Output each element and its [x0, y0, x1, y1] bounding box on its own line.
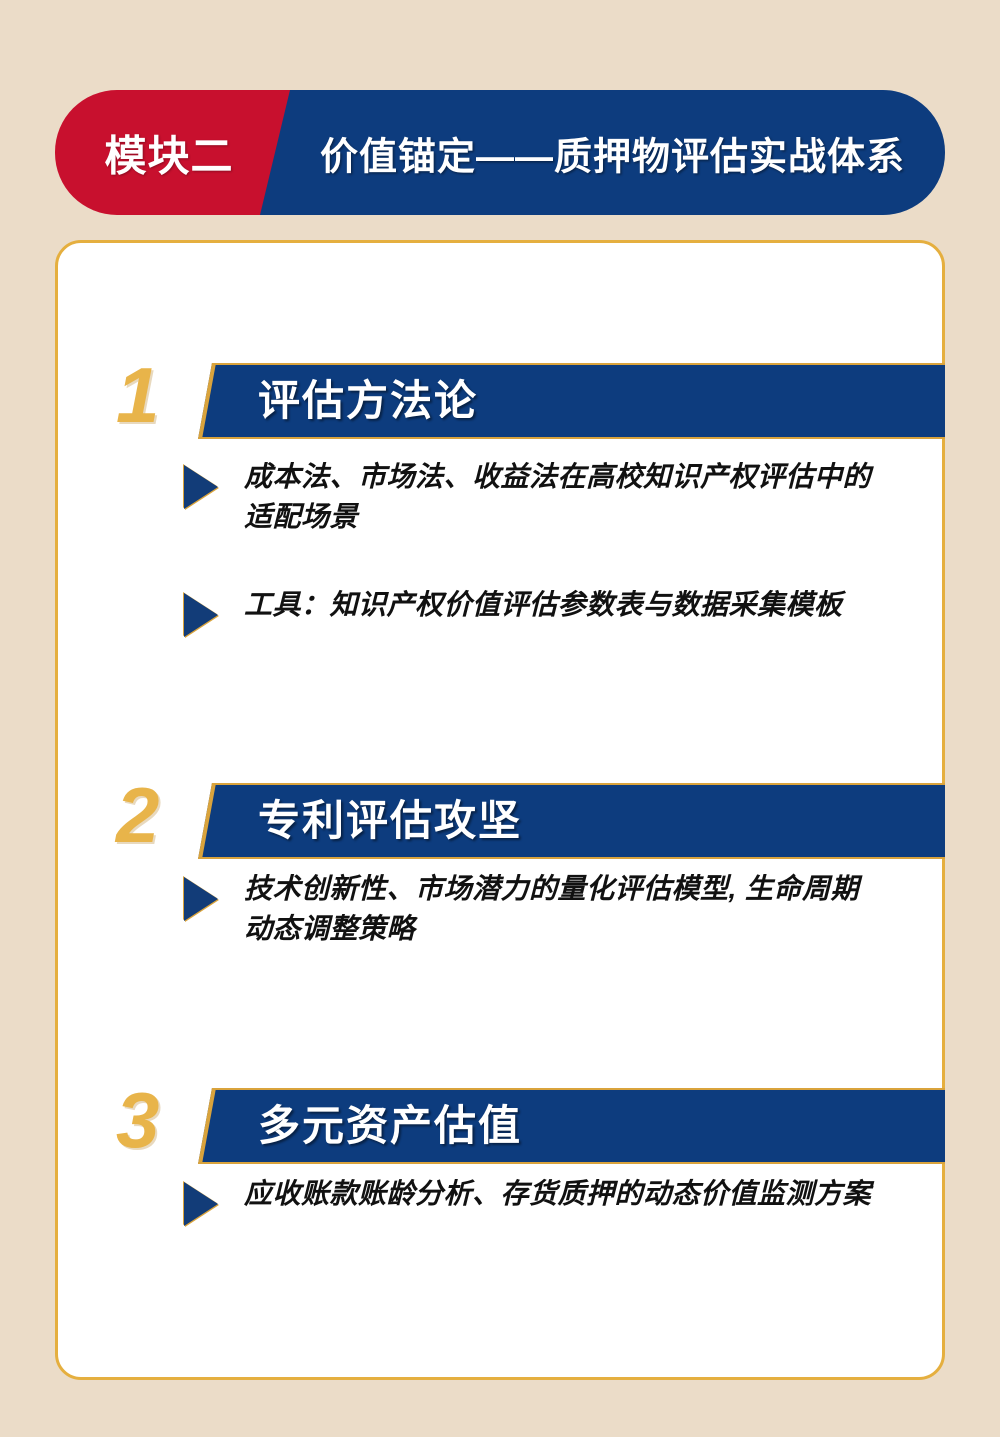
module-header-banner: 模块二 价值锚定——质押物评估实战体系 [55, 90, 945, 215]
list-item: 成本法、市场法、收益法在高校知识产权评估中的适配场景 [58, 457, 942, 537]
section-3-number: 3 [116, 1082, 159, 1158]
module-label: 模块二 [69, 122, 269, 183]
section-2-bullets: 技术创新性、市场潜力的量化评估模型, 生命周期动态调整策略 [58, 859, 942, 949]
section-1-title: 评估方法论 [258, 363, 478, 439]
list-item-text: 成本法、市场法、收益法在高校知识产权评估中的适配场景 [244, 461, 871, 532]
section-3-header: 3 多元资产估值 [58, 1088, 942, 1164]
module-title: 价值锚定——质押物评估实战体系 [320, 125, 905, 180]
list-item: 技术创新性、市场潜力的量化评估模型, 生命周期动态调整策略 [58, 869, 942, 949]
list-item: 应收账款账龄分析、存货质押的动态价值监测方案 [58, 1174, 942, 1232]
section-1: 1 评估方法论 成本法、市场法、收益法在高校知识产权评估中的适配场景 工具：知识… [58, 363, 942, 669]
section-3-bullets: 应收账款账龄分析、存货质押的动态价值监测方案 [58, 1164, 942, 1232]
section-2-title: 专利评估攻坚 [258, 783, 522, 859]
section-2: 2 专利评估攻坚 技术创新性、市场潜力的量化评估模型, 生命周期动态调整策略 [58, 783, 942, 975]
section-1-number: 1 [116, 357, 159, 433]
section-3-title: 多元资产估值 [258, 1088, 522, 1164]
triangle-right-icon [184, 465, 218, 509]
list-item: 工具：知识产权价值评估参数表与数据采集模板 [58, 585, 942, 643]
triangle-right-icon [184, 877, 218, 921]
triangle-right-icon [184, 593, 218, 637]
triangle-right-icon [184, 1182, 218, 1226]
list-item-text: 技术创新性、市场潜力的量化评估模型, 生命周期动态调整策略 [244, 873, 859, 944]
section-3: 3 多元资产估值 应收账款账龄分析、存货质押的动态价值监测方案 [58, 1088, 942, 1258]
section-1-header: 1 评估方法论 [58, 363, 942, 439]
section-1-bullets: 成本法、市场法、收益法在高校知识产权评估中的适配场景 工具：知识产权价值评估参数… [58, 439, 942, 643]
content-card: 1 评估方法论 成本法、市场法、收益法在高校知识产权评估中的适配场景 工具：知识… [55, 240, 945, 1380]
section-2-number: 2 [116, 777, 159, 853]
section-2-header: 2 专利评估攻坚 [58, 783, 942, 859]
list-item-text: 工具：知识产权价值评估参数表与数据采集模板 [244, 589, 843, 620]
list-item-text: 应收账款账龄分析、存货质押的动态价值监测方案 [244, 1178, 871, 1209]
